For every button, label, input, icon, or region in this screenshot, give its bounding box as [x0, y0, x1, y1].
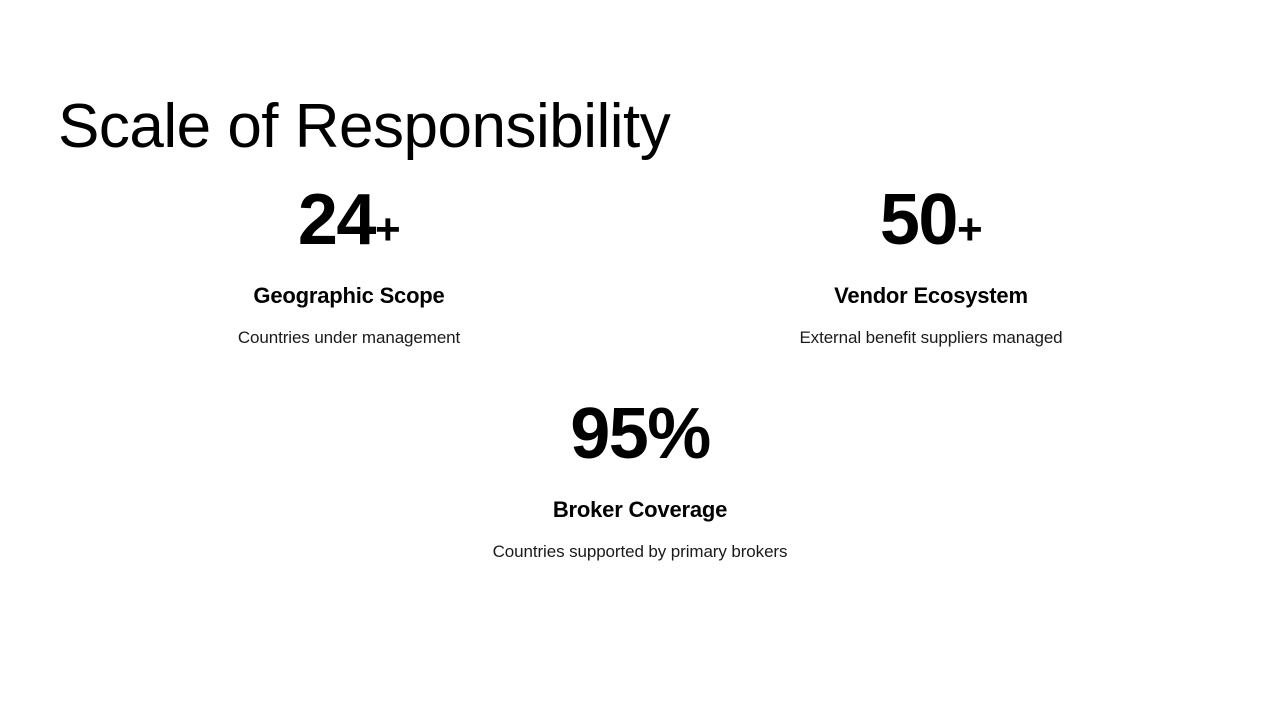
stat-description: External benefit suppliers managed: [660, 327, 1202, 348]
stat-label: Broker Coverage: [78, 497, 1202, 523]
stat-number: 24: [298, 180, 375, 260]
stat-suffix: +: [957, 205, 982, 254]
page-title: Scale of Responsibility: [58, 94, 670, 159]
stats-grid: 24+ Geographic Scope Countries under man…: [58, 180, 1222, 563]
stat-suffix: +: [375, 205, 400, 254]
stat-value: 24+: [78, 180, 620, 261]
stat-number: 50: [880, 180, 957, 260]
stat-value: 95%: [78, 394, 1202, 475]
slide-canvas: Scale of Responsibility 24+ Geographic S…: [0, 0, 1280, 720]
stat-suffix: %: [647, 394, 710, 474]
stat-card-broker-coverage: 95% Broker Coverage Countries supported …: [58, 394, 1222, 562]
stat-description: Countries supported by primary brokers: [78, 541, 1202, 562]
stat-value: 50+: [660, 180, 1202, 261]
stat-label: Geographic Scope: [78, 283, 620, 309]
stat-card-geographic-scope: 24+ Geographic Scope Countries under man…: [58, 180, 640, 348]
stat-card-vendor-ecosystem: 50+ Vendor Ecosystem External benefit su…: [640, 180, 1222, 348]
stat-label: Vendor Ecosystem: [660, 283, 1202, 309]
stat-number: 95: [570, 394, 647, 474]
stat-description: Countries under management: [78, 327, 620, 348]
